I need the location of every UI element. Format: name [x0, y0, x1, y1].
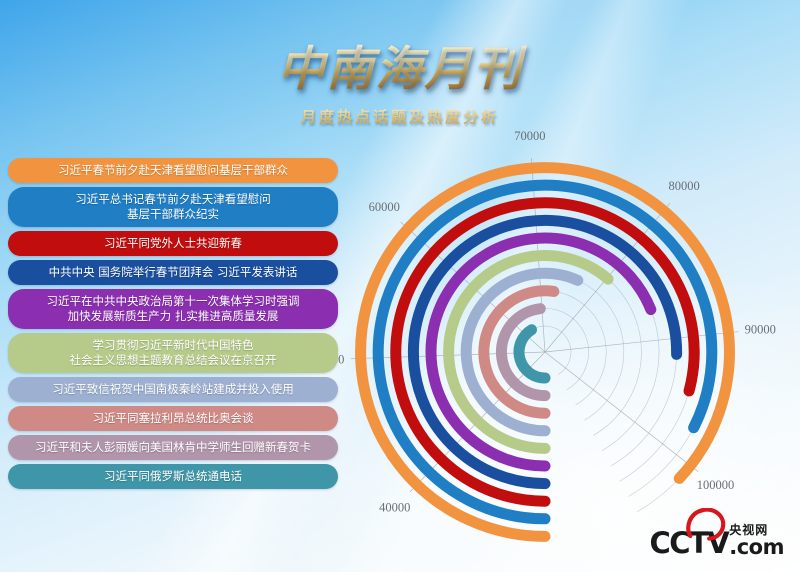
axis-tick-label-100000: 100000	[697, 478, 735, 492]
legend-item-9[interactable]: 习近平和夫人彭丽媛向美国林肯中学师生回赠新春贺卡	[8, 435, 338, 460]
radial-bar-6[interactable]: 学习贯彻习近平新时代中国特色 社会主义思想主题教育总结会议在京召开 — 8020…	[449, 256, 608, 449]
legend-item-label: 习近平同党外人士共迎新春	[104, 236, 242, 250]
radial-chart-svg: 400005000060000700008000090000100000习近平春…	[330, 130, 800, 550]
legend-item-4[interactable]: 中共中央 国务院举行春节团拜会 习近平发表讲话	[8, 260, 338, 285]
legend-item-label: 习近平总书记春节前夕赴天津看望慰问 基层干部群众纪实	[75, 192, 271, 221]
legend-item-label: 习近平同俄罗斯总统通电话	[104, 469, 242, 483]
infographic-canvas: 中南海月刊 月度热点话题及热度分析 习近平春节前夕赴天津看望慰问基层干部群众习近…	[0, 0, 800, 572]
legend-item-label: 习近平致信祝贺中国南极秦岭站建成并投入使用	[52, 382, 294, 396]
ring-track-2	[628, 428, 693, 497]
cctv-logo: CCTV 央视网 .com	[649, 524, 784, 558]
ring-track-7	[578, 280, 624, 420]
legend-item-7[interactable]: 习近平致信祝贺中国南极秦岭站建成并投入使用	[8, 377, 338, 402]
legend-item-label: 习近平在中共中央政治局第十一次集体学习时强调 加快发展新质生产力 扎实推进高质量…	[47, 294, 300, 323]
axis-tick-label-40000: 40000	[379, 501, 410, 515]
ring-track-5	[602, 310, 659, 451]
ring-track-6	[593, 279, 641, 435]
page-title: 中南海月刊	[0, 44, 800, 96]
ring-track-1	[637, 478, 679, 511]
legend-item-10[interactable]: 习近平同俄罗斯总统通电话	[8, 464, 338, 489]
radial-bar-chart: 400005000060000700008000090000100000习近平春…	[330, 130, 800, 550]
legend-item-1[interactable]: 习近平春节前夕赴天津看望慰问基层干部群众	[8, 158, 338, 183]
page-subtitle: 月度热点话题及热度分析	[0, 106, 800, 127]
cctv-swoosh-icon	[686, 508, 726, 542]
legend-item-label: 习近平同塞拉利昂总统比奥会谈	[93, 411, 254, 425]
legend-item-label: 学习贯彻习近平新时代中国特色 社会主义思想主题教育总结会议在京召开	[70, 338, 277, 367]
legend-item-3[interactable]: 习近平同党外人士共迎新春	[8, 231, 338, 256]
legend-item-5[interactable]: 习近平在中共中央政治局第十一次集体学习时强调 加快发展新质生产力 扎实推进高质量…	[8, 289, 338, 329]
axis-tick-label-90000: 90000	[745, 322, 776, 336]
legend-item-8[interactable]: 习近平同塞拉利昂总统比奥会谈	[8, 406, 338, 431]
header: 中南海月刊 月度热点话题及热度分析	[0, 44, 800, 127]
legend-item-2[interactable]: 习近平总书记春节前夕赴天津看望慰问 基层干部群众纪实	[8, 187, 338, 227]
radial-bar-10[interactable]: 习近平同俄罗斯总统通电话 — 63800	[519, 330, 545, 378]
legend-item-label: 习近平和夫人彭丽媛向美国林肯中学师生回赠新春贺卡	[35, 440, 311, 454]
legend-item-label: 中共中央 国务院举行春节团拜会 习近平发表讲话	[49, 265, 298, 279]
cctv-domain: .com	[729, 537, 784, 558]
axis-tick-label-80000: 80000	[668, 179, 699, 193]
legend-list: 习近平春节前夕赴天津看望慰问基层干部群众习近平总书记春节前夕赴天津看望慰问 基层…	[8, 158, 338, 493]
ring-track-3	[620, 391, 689, 481]
ring-track-4	[611, 354, 677, 466]
legend-item-6[interactable]: 学习贯彻习近平新时代中国特色 社会主义思想主题教育总结会议在京召开	[8, 333, 338, 373]
legend-item-label: 习近平春节前夕赴天津看望慰问基层干部群众	[58, 163, 288, 177]
axis-tick-label-60000: 60000	[369, 200, 400, 214]
axis-tick-label-70000: 70000	[514, 130, 545, 143]
